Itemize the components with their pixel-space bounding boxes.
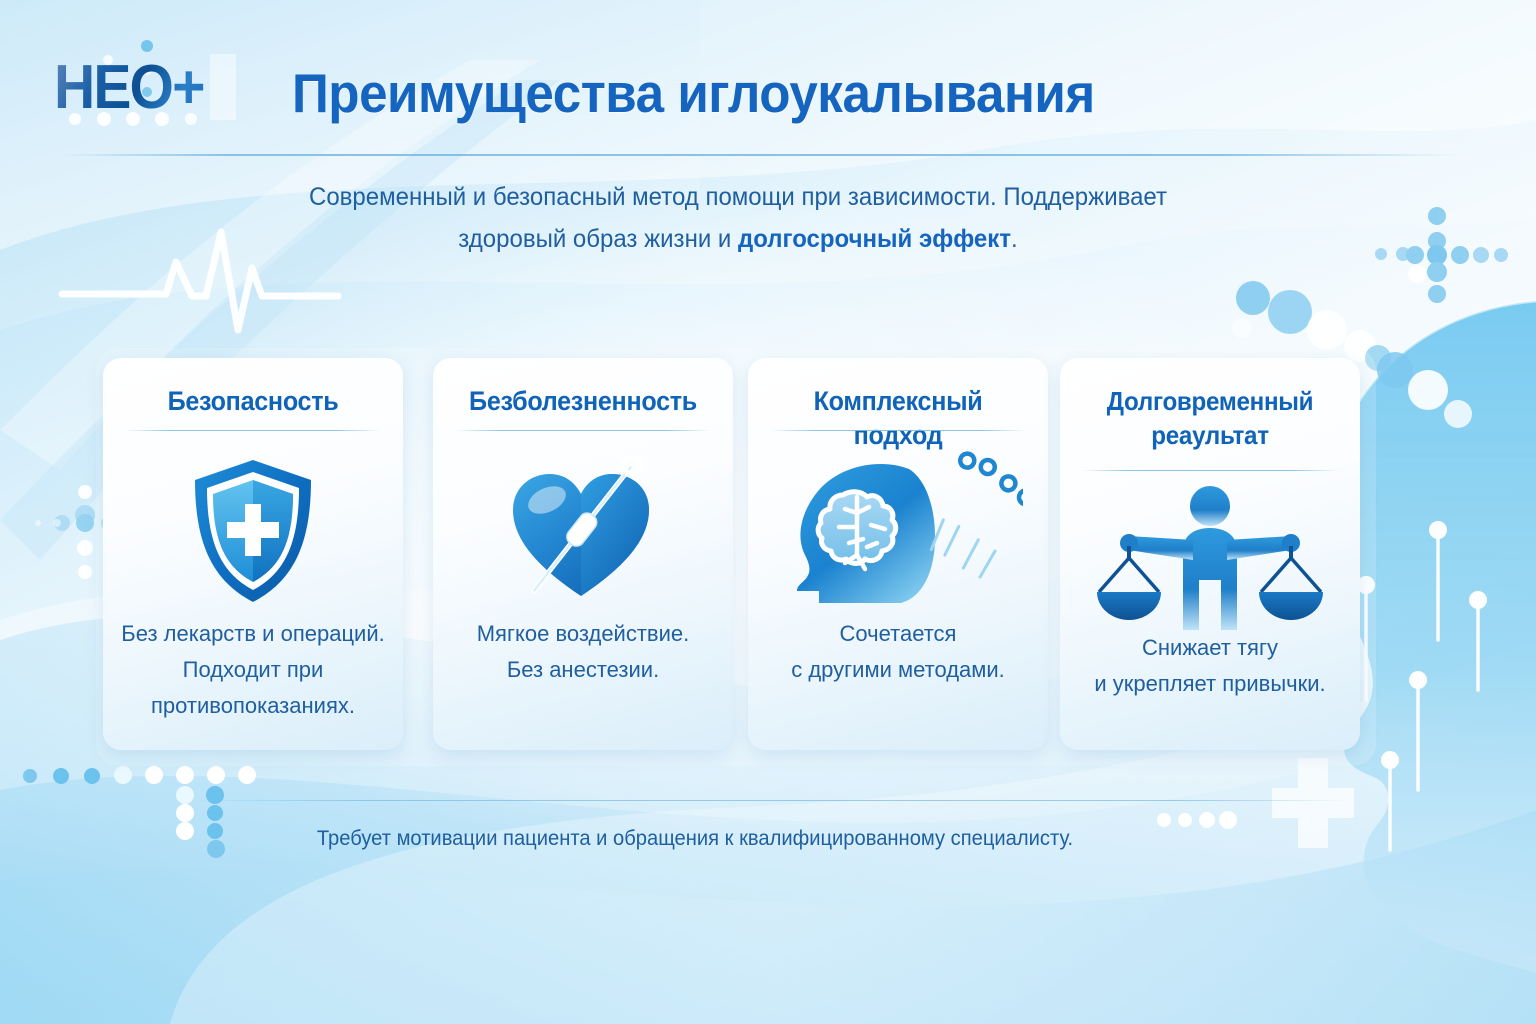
card-description-line-2: Подходит при — [115, 652, 391, 688]
card-description-line-2: Без анестезии. — [445, 652, 721, 688]
subtitle-text-part2: . — [1011, 225, 1018, 253]
needle-decorations — [1366, 530, 1478, 850]
card-description-line-1: Без лекарств и операций. — [115, 616, 391, 652]
card-title: Комплексный подход — [772, 384, 1025, 452]
card-description: Снижает тягу и укрепляет привычки. — [1072, 630, 1348, 702]
card-description-line-2: с другими методами. — [760, 652, 1036, 688]
infographic-canvas: НЕО+ Преимущества иглоукалывания Совреме… — [0, 0, 1536, 1024]
header-divider — [60, 154, 1460, 156]
header: НЕО+ Преимущества иглоукалывания — [0, 0, 1536, 156]
benefit-card-painless[interactable]: Безболезненность — [433, 358, 733, 750]
card-description-line-1: Мягкое воздействие. — [445, 616, 721, 652]
dotted-cross-right — [1375, 207, 1508, 303]
footer-divider — [190, 800, 1350, 801]
card-description-line-1: Сочетается — [760, 616, 1036, 652]
dot-grid-decoration — [35, 519, 61, 527]
card-title: Безболезненность — [457, 384, 710, 418]
balance-scales-person-icon — [1060, 476, 1360, 634]
card-description: Сочетается с другими методами. — [760, 616, 1036, 688]
card-title: Безопасность — [127, 384, 380, 418]
page-title: Преимущества иглоукалывания — [292, 58, 1095, 128]
benefit-card-complex-approach[interactable]: Комплексный подход — [748, 358, 1048, 750]
benefit-card-long-term-result[interactable]: Долговременный реаультат — [1060, 358, 1360, 750]
heart-needle-icon — [433, 446, 733, 616]
brand-logo[interactable]: НЕО+ — [48, 52, 258, 124]
footer-note: Требует мотивации пациента и обращения к… — [28, 822, 1362, 856]
benefit-card-safety[interactable]: Безопасность — [103, 358, 403, 750]
card-title: Долговременный реаультат — [1084, 384, 1337, 452]
card-description: Мягкое воздействие. Без анестезии. — [445, 616, 721, 688]
benefit-cards: Безопасность — [103, 358, 1365, 758]
card-description-line-3: противопоказаниях. — [115, 688, 391, 724]
shield-cross-icon — [103, 446, 403, 616]
head-brain-needles-icon — [748, 446, 1048, 616]
card-description: Без лекарств и операций. Подходит при пр… — [115, 616, 391, 724]
card-description-line-1: Снижает тягу — [1072, 630, 1348, 666]
card-divider — [1082, 470, 1338, 471]
card-divider — [455, 430, 711, 431]
card-divider — [770, 430, 1026, 431]
brand-logo-text: НЕО+ — [54, 56, 204, 120]
subtitle-highlight: долгосрочный эффект — [738, 225, 1011, 253]
card-description-line-2: и укрепляет привычки. — [1072, 666, 1348, 702]
subtitle: Современный и безопасный метод помощи пр… — [287, 176, 1189, 260]
card-divider — [125, 430, 381, 431]
